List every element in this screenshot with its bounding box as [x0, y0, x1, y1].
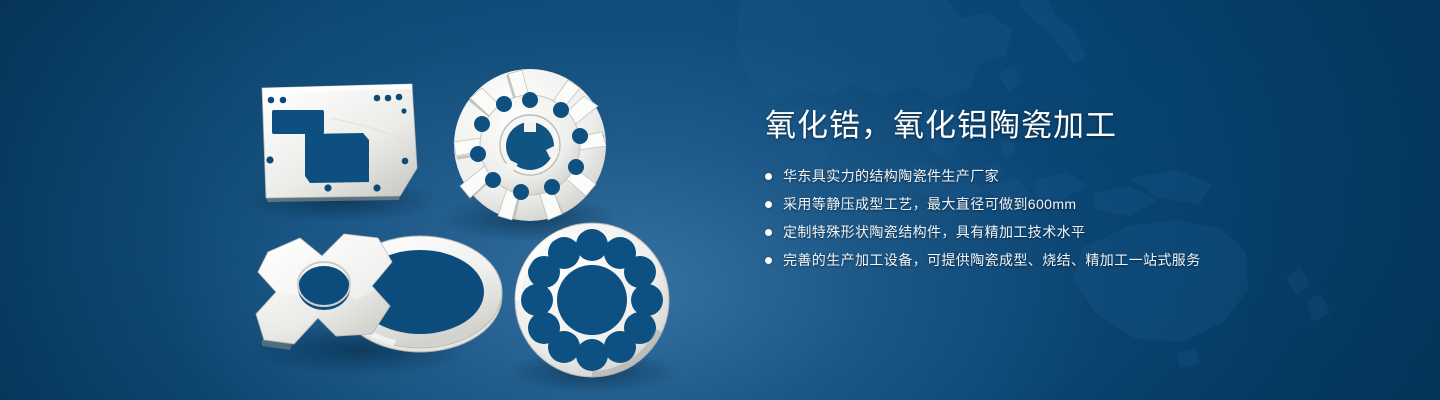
list-item: 完善的生产加工设备，可提供陶瓷成型、烧结、精加工一站式服务: [765, 250, 1405, 271]
banner-text-column: 氧化锆，氧化铝陶瓷加工 华东具实力的结构陶瓷件生产厂家 采用等静压成型工艺，最大…: [765, 104, 1405, 278]
list-item: 定制特殊形状陶瓷结构件，具有精加工技术水平: [765, 222, 1405, 243]
bullet-label: 华东具实力的结构陶瓷件生产厂家: [783, 166, 999, 187]
bullet-label: 完善的生产加工设备，可提供陶瓷成型、烧结、精加工一站式服务: [783, 250, 1201, 271]
banner-feature-list: 华东具实力的结构陶瓷件生产厂家 采用等静压成型工艺，最大直径可做到600mm 定…: [765, 166, 1405, 271]
bullet-label: 定制特殊形状陶瓷结构件，具有精加工技术水平: [783, 222, 1085, 243]
bullet-dot-icon: [765, 257, 772, 264]
bullet-label: 采用等静压成型工艺，最大直径可做到600mm: [783, 194, 1076, 215]
hero-banner: 氧化锆，氧化铝陶瓷加工 华东具实力的结构陶瓷件生产厂家 采用等静压成型工艺，最大…: [0, 0, 1440, 400]
list-item: 华东具实力的结构陶瓷件生产厂家: [765, 166, 1405, 187]
bullet-dot-icon: [765, 173, 772, 180]
ceramic-impeller-part: [454, 69, 606, 221]
list-item: 采用等静压成型工艺，最大直径可做到600mm: [765, 194, 1405, 215]
bullet-dot-icon: [765, 201, 772, 208]
ceramic-flange-part: [515, 223, 669, 377]
banner-headline: 氧化锆，氧化铝陶瓷加工: [765, 104, 1405, 148]
bullet-dot-icon: [765, 229, 772, 236]
ceramic-plate-part: [262, 84, 417, 202]
ceramic-products-image: [0, 0, 740, 400]
